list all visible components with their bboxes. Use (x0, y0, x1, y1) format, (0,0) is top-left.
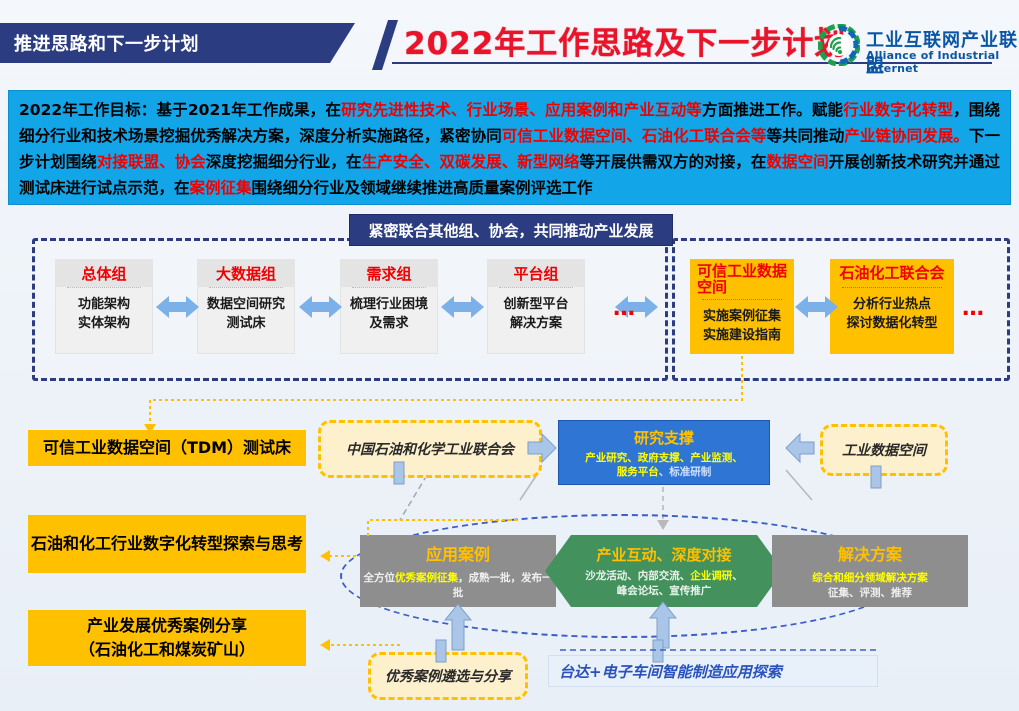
ellipsis-left: … (613, 296, 637, 321)
partner-card-title: 石油化工联合会 (830, 259, 954, 287)
note-cpcif[interactable]: 中国石油和化学工业联合会 (318, 420, 542, 478)
research-support-sub-line2-hi: 服务平台 (617, 466, 659, 478)
solution-title: 解决方案 (838, 541, 902, 565)
header-tab-label: 推进思路和下一步计划 (14, 30, 199, 56)
partner-card-body: 分析行业热点 探讨数据化转型 (830, 289, 954, 333)
note-industrial-data-space[interactable]: 工业数据空间 (820, 424, 948, 476)
goal-text: 等开展供需双方的对接，在 (580, 153, 767, 171)
group-card-body: 数据空间研究 测试床 (197, 289, 295, 333)
research-support-sub-line1: 产业研究、政府支撑、产业监测、 (585, 452, 743, 464)
bottom-bar-label: 台达+电子车间智能制造应用探索 (559, 661, 782, 682)
group-card-demand[interactable]: 需求组 梳理行业困境 及需求 (340, 259, 438, 354)
goal-highlight: 行业数字化转型 (843, 101, 953, 119)
solution-sub-hi: 综合和细分领域解决方案 (812, 572, 928, 584)
industry-interaction-box[interactable]: 产业互动、深度对接 沙龙活动、内部交流、企业调研、 峰会论坛、宣传推广 (545, 535, 783, 607)
inter-sub-pre: 沙龙活动、内部交流、 (585, 570, 690, 582)
band-title: 紧密联合其他组、协会，共同推动产业发展 (349, 214, 673, 246)
goal-text: 等共同推动 (766, 127, 844, 145)
alliance-logo-icon (818, 24, 860, 66)
note-label: 工业数据空间 (842, 440, 926, 460)
application-case-box[interactable]: 应用案例 全方位优秀案例征集，成熟一批，发布一批 (360, 535, 556, 607)
ellipsis-right: … (962, 296, 986, 321)
group-card-body: 梳理行业困境 及需求 (340, 289, 438, 333)
interaction-subtitle: 沙龙活动、内部交流、企业调研、 峰会论坛、宣传推广 (585, 569, 743, 599)
application-case-title: 应用案例 (426, 541, 490, 565)
left-bar-label: 石油和化工行业数字化转型探索与思考 (31, 532, 303, 556)
solution-box[interactable]: 解决方案 综合和细分领域解决方案 征集、评测、推荐 (772, 535, 968, 607)
left-bar-label: 产业发展优秀案例分享 （石油化工和煤炭矿山） (79, 614, 255, 662)
app-sub-post: ，成熟一批，发布一批 (453, 572, 553, 599)
group-card-platform[interactable]: 平台组 创新型平台 解决方案 (487, 259, 585, 354)
group-card-body: 功能架构 实体架构 (55, 289, 153, 333)
group-card-body: 创新型平台 解决方案 (487, 289, 585, 333)
partner-card-cpcif[interactable]: 石油化工联合会 分析行业热点 探讨数据化转型 (830, 259, 954, 354)
group-card-title: 平台组 (487, 259, 585, 287)
goal-text: 2022年工作目标：基于2021年工作成果，在 (19, 101, 341, 119)
research-support-box[interactable]: 研究支撑 产业研究、政府支撑、产业监测、 服务平台、标准研制 (558, 420, 770, 485)
research-support-subtitle: 产业研究、政府支撑、产业监测、 服务平台、标准研制 (585, 451, 743, 479)
note-label: 优秀案例遴选与分享 (385, 666, 511, 686)
app-sub-pre: 全方位 (364, 572, 396, 584)
goal-text: 围绕细分行业及领域继续推进高质量案例评选工作 (252, 179, 593, 197)
left-bar-label: 可信工业数据空间（TDM）测试床 (43, 436, 291, 460)
slide-root: 推进思路和下一步计划 2022年工作思路及下一步计划 工业互联网产业联盟 All… (0, 0, 1019, 711)
research-support-title: 研究支撑 (634, 427, 694, 448)
goal-highlight: 可信工业数据空间、石油化工联合会等 (502, 127, 767, 145)
header-tab: 推进思路和下一步计划 (0, 23, 370, 63)
goal-highlight: 产业链协同发展。 (844, 127, 969, 145)
left-bar-tdm[interactable]: 可信工业数据空间（TDM）测试床 (28, 430, 306, 466)
left-bar-digital-transformation[interactable]: 石油和化工行业数字化转型探索与思考 (28, 515, 306, 573)
group-card-title: 大数据组 (197, 259, 295, 287)
group-card-overall[interactable]: 总体组 功能架构 实体架构 (55, 259, 153, 354)
inter-sub-line2: 峰会论坛、宣传推广 (617, 585, 712, 597)
goal-highlight: 对接联盟、协会 (97, 153, 206, 171)
bottom-bar-delta[interactable]: 台达+电子车间智能制造应用探索 (548, 655, 878, 687)
app-sub-hi: 优秀案例征集 (395, 572, 458, 584)
goal-highlight: 数据空间 (766, 153, 828, 171)
goal-text: 方面推进工作。赋能 (702, 101, 843, 119)
partner-card-title: 可信工业数据 空间 (690, 259, 794, 299)
page-title: 2022年工作思路及下一步计划 (404, 18, 846, 63)
partner-card-body: 实施案例征集 实施建设指南 (690, 301, 794, 345)
research-support-sub-line2-rest: 、标准研制 (659, 466, 712, 478)
application-case-subtitle: 全方位优秀案例征集，成熟一批，发布一批 (360, 571, 556, 601)
group-card-bigdata[interactable]: 大数据组 数据空间研究 测试床 (197, 259, 295, 354)
goal-text: 深度挖掘细分行业，在 (206, 153, 362, 171)
note-label: 中国石油和化学工业联合会 (346, 439, 514, 459)
logo-text-en: Alliance of Industrial Internet (866, 49, 1019, 75)
goal-highlight: 研究先进性技术、行业场景、应用案例和产业互动等 (341, 101, 702, 119)
solution-subtitle: 综合和细分领域解决方案 征集、评测、推荐 (812, 571, 928, 601)
inter-sub-post: 、 (732, 570, 743, 582)
group-card-title: 总体组 (55, 259, 153, 287)
left-bar-case-sharing[interactable]: 产业发展优秀案例分享 （石油化工和煤炭矿山） (28, 610, 306, 666)
inter-sub-hi: 企业调研 (690, 570, 732, 582)
goal-highlight: 案例征集 (190, 179, 252, 197)
group-card-title: 需求组 (340, 259, 438, 287)
goal-highlight: 生产安全、双碳发展、新型网络 (362, 153, 580, 171)
goal-paragraph: 2022年工作目标：基于2021年工作成果，在研究先进性技术、行业场景、应用案例… (8, 90, 1011, 205)
interaction-title: 产业互动、深度对接 (596, 544, 731, 565)
solution-sub-line2: 征集、评测、推荐 (828, 587, 912, 599)
partner-card-tdm[interactable]: 可信工业数据 空间 实施案例征集 实施建设指南 (690, 259, 794, 354)
note-case-selection[interactable]: 优秀案例遴选与分享 (368, 652, 528, 700)
